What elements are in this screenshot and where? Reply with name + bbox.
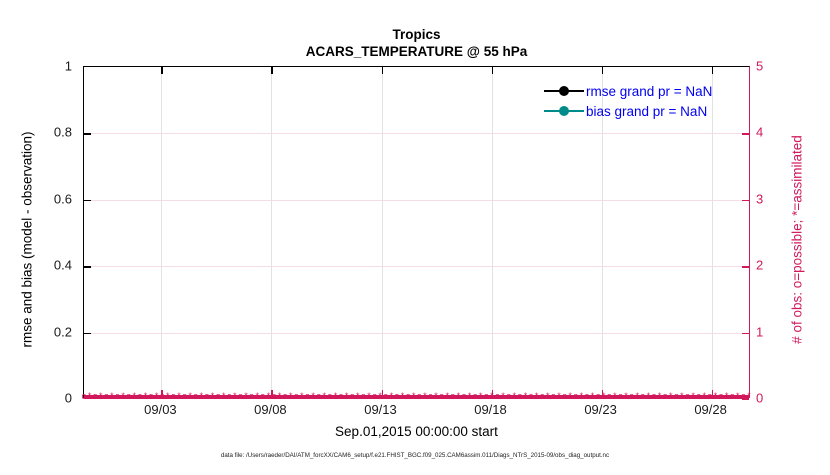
obs-marker: o: [461, 392, 468, 401]
y-tick-right-4: 4: [756, 125, 763, 140]
obs-marker: *: [153, 392, 160, 401]
tickmark-top-5: [712, 67, 713, 74]
obs-marker: *: [578, 392, 585, 401]
obs-marker: *: [254, 392, 261, 401]
gridline-v-2: [382, 67, 383, 397]
tickmark-top-3: [492, 67, 493, 74]
obs-marker: o: [695, 392, 702, 401]
obs-marker: o: [639, 392, 646, 401]
obs-marker: *: [298, 392, 305, 401]
legend-marker-rmse-icon: [544, 84, 584, 98]
obs-marker: *: [86, 392, 93, 401]
x-tick-0: 09/03: [144, 402, 177, 417]
y-tick-right-3: 3: [756, 191, 763, 206]
y-axis-title-right: # of obs: o=possible; *=assimilated: [790, 5, 805, 475]
tickmark-bottom-1: [271, 390, 272, 397]
obs-marker: *: [712, 392, 719, 401]
y-tick-left-5: 1: [65, 59, 72, 74]
obs-marker: *: [444, 392, 451, 401]
tickmark-right-0: [742, 133, 749, 134]
chart-legend: rmse grand pr = NaN bias grand pr = NaN: [544, 82, 712, 120]
obs-marker: o: [360, 392, 367, 401]
gridline-v-1: [271, 67, 272, 397]
obs-marker: o: [673, 392, 680, 401]
obs-marker: *: [287, 392, 294, 401]
obs-marker: *: [611, 392, 618, 401]
legend-item-rmse: rmse grand pr = NaN: [544, 82, 712, 100]
x-tick-5: 09/28: [694, 402, 727, 417]
data-file-caption: data file: /Users/raeder/DAI/ATM_forcXX/…: [0, 452, 830, 459]
obs-marker: *: [544, 392, 551, 401]
gridline-h-0: [84, 333, 749, 334]
obs-marker: o: [516, 392, 523, 401]
x-tick-4: 09/23: [584, 402, 617, 417]
obs-marker: o: [583, 392, 590, 401]
obs-marker: o: [472, 392, 479, 401]
tickmark-top-1: [271, 67, 272, 74]
obs-marker: *: [310, 392, 317, 401]
obs-marker: o: [617, 392, 624, 401]
tickmark-right-1: [742, 200, 749, 201]
obs-marker: *: [645, 392, 652, 401]
obs-marker: o: [293, 392, 300, 401]
obs-marker: *: [723, 392, 730, 401]
obs-marker: o: [539, 392, 546, 401]
legend-label-bias: bias grand pr = NaN: [586, 104, 707, 119]
obs-marker: *: [142, 392, 149, 401]
obs-marker: *: [522, 392, 529, 401]
obs-marker: *: [243, 392, 250, 401]
obs-marker: *: [634, 392, 641, 401]
y-tick-left-2: 0.4: [54, 258, 72, 273]
obs-marker: o: [259, 392, 266, 401]
obs-marker: *: [678, 392, 685, 401]
tickmark-bottom-0: [161, 390, 162, 397]
obs-marker: *: [511, 392, 518, 401]
obs-marker: *: [187, 392, 194, 401]
obs-marker: *: [500, 392, 507, 401]
legend-label-rmse: rmse grand pr = NaN: [586, 84, 712, 99]
obs-marker: o: [349, 392, 356, 401]
obs-marker: o: [550, 392, 557, 401]
obs-marker: o: [226, 392, 233, 401]
gridline-h-3: [84, 133, 749, 134]
obs-marker: *: [354, 392, 361, 401]
obs-marker: o: [393, 392, 400, 401]
obs-marker: *: [556, 392, 563, 401]
obs-marker: o: [382, 392, 389, 401]
obs-marker: o: [684, 392, 691, 401]
obs-marker: *: [366, 392, 373, 401]
obs-marker: *: [198, 392, 205, 401]
tickmark-left-1: [84, 200, 91, 201]
tickmark-top-2: [382, 67, 383, 74]
obs-marker: o: [416, 392, 423, 401]
obs-marker: *: [623, 392, 630, 401]
obs-marker: o: [136, 392, 143, 401]
obs-marker: o: [595, 392, 602, 401]
obs-marker: o: [203, 392, 210, 401]
obs-marker: *: [321, 392, 328, 401]
obs-marker: o: [338, 392, 345, 401]
y-tick-right-2: 2: [756, 258, 763, 273]
obs-marker: *: [656, 392, 663, 401]
obs-marker: *: [667, 392, 674, 401]
x-tick-2: 09/13: [364, 402, 397, 417]
tickmark-bottom-5: [712, 390, 713, 397]
gridline-v-3: [492, 67, 493, 397]
tickmark-top-4: [602, 67, 603, 74]
obs-marker: *: [589, 392, 596, 401]
obs-marker: o: [528, 392, 535, 401]
obs-marker: *: [455, 392, 462, 401]
gridline-h-2: [84, 200, 749, 201]
obs-marker: *: [567, 392, 574, 401]
obs-marker: *: [332, 392, 339, 401]
obs-marker: o: [371, 392, 378, 401]
y-tick-left-3: 0.6: [54, 191, 72, 206]
obs-marker: *: [120, 392, 127, 401]
figure-canvas: Tropics ACARS_TEMPERATURE @ 55 hPa 0 0.2…: [0, 0, 830, 470]
obs-marker: *: [421, 392, 428, 401]
y-tick-left-0: 0: [65, 391, 72, 406]
obs-marker: o: [651, 392, 658, 401]
chart-title-block: Tropics ACARS_TEMPERATURE @ 55 hPa: [83, 26, 750, 60]
obs-marker: *: [690, 392, 697, 401]
tickmark-bottom-3: [492, 390, 493, 397]
tickmark-bottom-2: [382, 390, 383, 397]
y-axis-title-left: rmse and bias (model - observation): [20, 5, 35, 475]
y-tick-left-4: 0.8: [54, 125, 72, 140]
legend-marker-bias-icon: [544, 104, 584, 118]
obs-marker: *: [176, 392, 183, 401]
tickmark-left-3: [84, 333, 91, 334]
tickmark-right-4: [742, 399, 749, 400]
obs-marker: o: [494, 392, 501, 401]
obs-marker: *: [108, 392, 115, 401]
obs-marker: o: [326, 392, 333, 401]
obs-marker: *: [399, 392, 406, 401]
obs-marker: o: [315, 392, 322, 401]
obs-marker: o: [718, 392, 725, 401]
obs-marker: *: [164, 392, 171, 401]
obs-marker: o: [215, 392, 222, 401]
y-tick-left-1: 0.2: [54, 324, 72, 339]
obs-marker: o: [181, 392, 188, 401]
obs-marker: *: [131, 392, 138, 401]
obs-marker: *: [701, 392, 708, 401]
obs-marker: o: [427, 392, 434, 401]
obs-marker: o: [405, 392, 412, 401]
y-tick-right-5: 5: [756, 59, 763, 74]
obs-marker: o: [114, 392, 121, 401]
obs-marker: *: [533, 392, 540, 401]
obs-marker: *: [231, 392, 238, 401]
legend-item-bias: bias grand pr = NaN: [544, 102, 712, 120]
obs-marker: *: [734, 392, 741, 401]
obs-marker: o: [125, 392, 132, 401]
chart-subtitle: ACARS_TEMPERATURE @ 55 hPa: [83, 43, 750, 60]
obs-marker: *: [388, 392, 395, 401]
gridline-h-1: [84, 266, 749, 267]
obs-marker: o: [92, 392, 99, 401]
x-axis-title: Sep.01,2015 00:00:00 start: [83, 424, 750, 439]
obs-marker: *: [276, 392, 283, 401]
chart-title: Tropics: [83, 26, 750, 43]
y-tick-right-0: 0: [756, 391, 763, 406]
obs-marker: *: [477, 392, 484, 401]
obs-marker: o: [606, 392, 613, 401]
obs-marker: *: [433, 392, 440, 401]
obs-marker: o: [628, 392, 635, 401]
obs-marker: o: [170, 392, 177, 401]
obs-marker: o: [449, 392, 456, 401]
tickmark-top-0: [161, 67, 162, 74]
obs-marker: o: [729, 392, 736, 401]
obs-marker: o: [81, 392, 88, 401]
obs-marker: *: [209, 392, 216, 401]
obs-marker: o: [483, 392, 490, 401]
obs-marker: *: [410, 392, 417, 401]
tickmark-left-2: [84, 266, 91, 267]
obs-marker: o: [662, 392, 669, 401]
x-tick-3: 09/18: [474, 402, 507, 417]
obs-marker: o: [505, 392, 512, 401]
tickmark-left-0: [84, 133, 91, 134]
obs-marker: o: [438, 392, 445, 401]
x-tick-1: 09/08: [254, 402, 287, 417]
obs-marker: o: [561, 392, 568, 401]
obs-count-series: o*o*o*o*o*o*o*o*o*o*o*o*o*o*o*o*o*o*o*o*…: [84, 392, 749, 401]
obs-marker: o: [148, 392, 155, 401]
tickmark-right-2: [742, 266, 749, 267]
y-tick-right-1: 1: [756, 324, 763, 339]
obs-marker: o: [572, 392, 579, 401]
tickmark-right-3: [742, 333, 749, 334]
obs-marker: o: [304, 392, 311, 401]
tickmark-bottom-4: [602, 390, 603, 397]
obs-baseline: [84, 395, 749, 399]
obs-marker: o: [192, 392, 199, 401]
obs-marker: *: [97, 392, 104, 401]
obs-marker: *: [343, 392, 350, 401]
obs-marker: *: [466, 392, 473, 401]
obs-marker: o: [248, 392, 255, 401]
obs-marker: *: [220, 392, 227, 401]
obs-marker: o: [237, 392, 244, 401]
obs-marker: o: [282, 392, 289, 401]
obs-marker: o: [103, 392, 110, 401]
gridline-v-0: [161, 67, 162, 397]
